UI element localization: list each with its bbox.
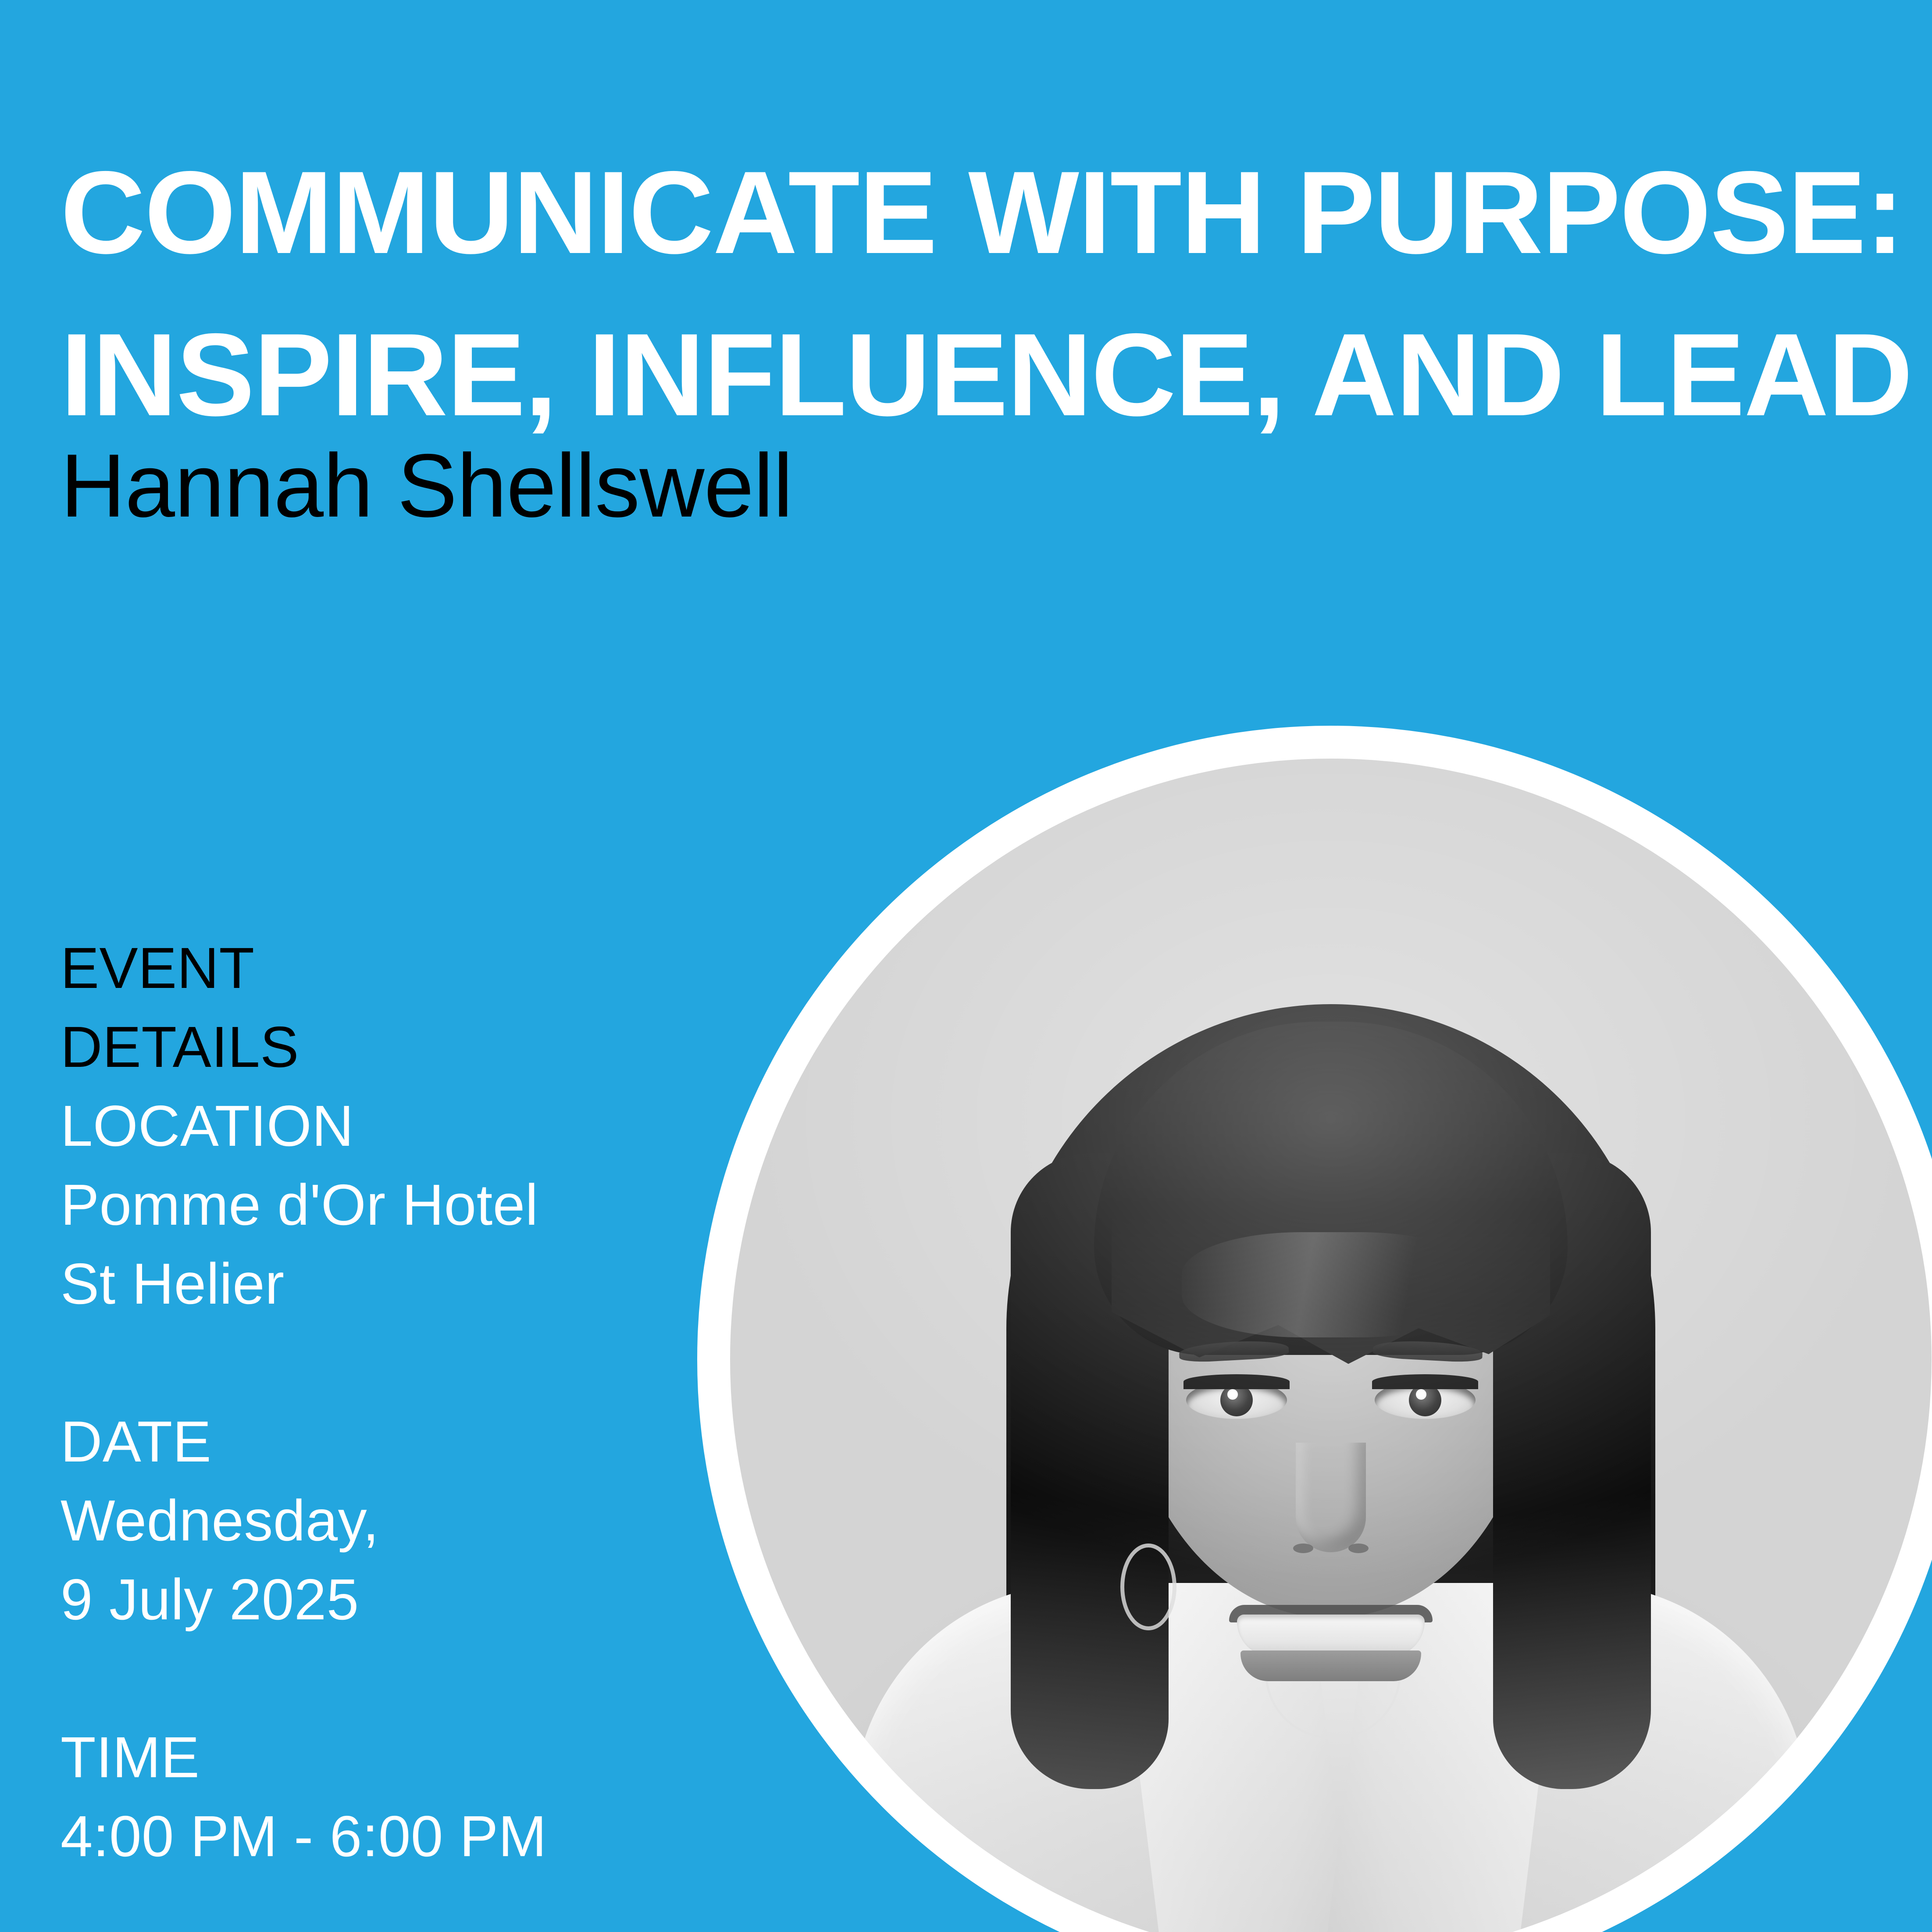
time-label: TIME [61,1718,652,1797]
title-line-2: INSPIRE, INFLUENCE, AND LEAD [61,309,1912,440]
date-label: DATE [61,1402,652,1481]
hair-highlight [1182,1232,1480,1337]
nostril-right [1348,1543,1369,1553]
eyelash-right [1372,1374,1478,1389]
eyelash-left [1183,1374,1290,1389]
title-line-1: COMMUNICATE WITH PURPOSE: [61,146,1903,278]
hoop-earring [1120,1543,1176,1630]
details-spacer-1 [61,1323,652,1402]
event-details-block: EVENT DETAILS LOCATION Pomme d'Or Hotel … [61,929,652,1876]
date-value-line-2: 9 July 2025 [61,1560,652,1639]
time-value: 4:00 PM - 6:00 PM [61,1797,652,1876]
location-label: LOCATION [61,1087,652,1166]
lower-lip [1240,1650,1421,1681]
location-value-line-2: St Helier [61,1244,652,1323]
event-poster: COMMUNICATE WITH PURPOSE: INSPIRE, INFLU… [0,0,1932,1932]
date-value-line-1: Wednesday, [61,1481,652,1560]
poster-title: COMMUNICATE WITH PURPOSE: INSPIRE, INFLU… [61,132,1814,456]
location-value-line-1: Pomme d'Or Hotel [61,1166,652,1244]
portrait-illustration [730,759,1932,1932]
event-details-heading-line-1: EVENT [61,929,652,1008]
details-spacer-2 [61,1639,652,1718]
speaker-photo [730,759,1932,1932]
event-details-heading-line-2: DETAILS [61,1008,652,1087]
speaker-photo-ring [697,726,1932,1932]
nose [1296,1443,1366,1552]
mouth [1226,1605,1436,1675]
speaker-name: Hannah Shellswell [61,432,793,540]
nostril-left [1293,1543,1313,1553]
